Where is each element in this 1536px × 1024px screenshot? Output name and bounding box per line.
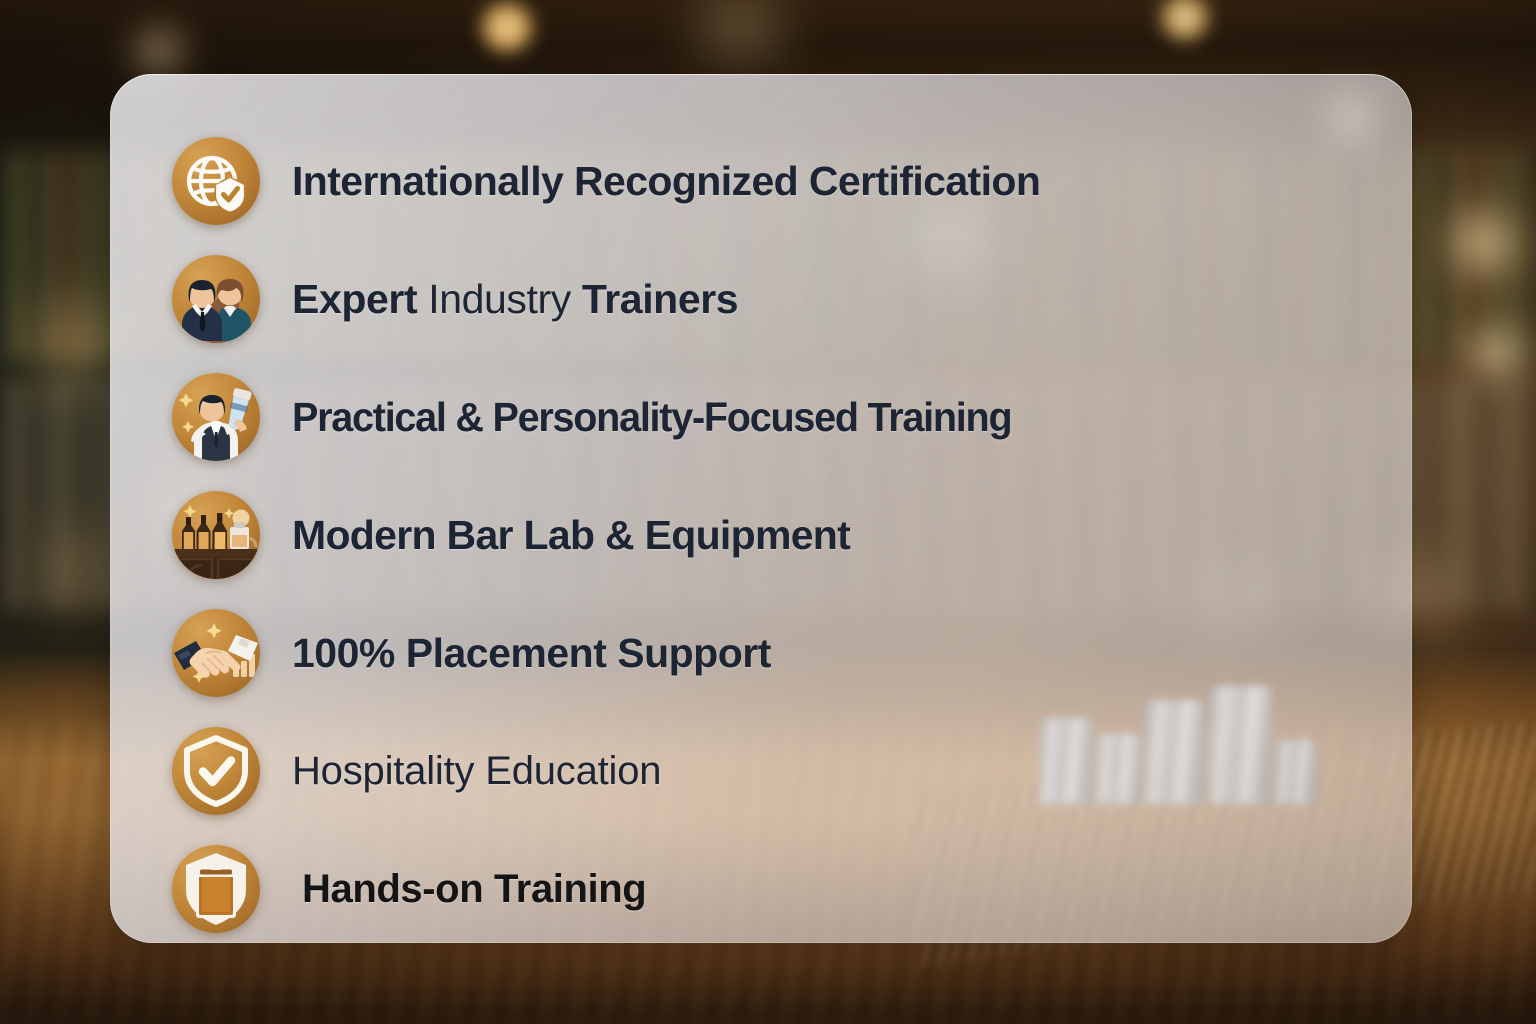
feature-label: Hospitality Education (292, 749, 661, 794)
feature-label: Hands-on Training (302, 867, 646, 912)
feature-item-bar-lab[interactable]: Modern Bar Lab & Equipment (172, 476, 1412, 594)
bartender-shaker-icon (172, 373, 260, 461)
shield-check-icon (172, 727, 260, 815)
feature-item-hospitality-education[interactable]: Hospitality Education (172, 712, 1412, 830)
feature-label: Expert Industry Trainers (292, 276, 738, 323)
feature-item-hands-on-training[interactable]: Hands-on Training (172, 830, 1412, 943)
feature-list: Internationally Recognized Certification (110, 74, 1412, 943)
feature-label-segment: Industry (428, 276, 571, 322)
trainers-people-icon (172, 255, 260, 343)
bar-bottles-shelf-icon (172, 491, 260, 579)
feature-item-trainers[interactable]: Expert Industry Trainers (172, 240, 1412, 358)
feature-label-segment: Expert (292, 276, 428, 322)
feature-label: Practical & Personality-Focused Training (292, 394, 1011, 441)
feature-label-segment: Trainers (571, 276, 738, 322)
handshake-growth-icon (172, 609, 260, 697)
clipboard-shield-icon (172, 845, 260, 933)
feature-label: Internationally Recognized Certification (292, 158, 1040, 205)
feature-label: 100% Placement Support (292, 630, 771, 677)
feature-item-placement-support[interactable]: 100% Placement Support (172, 594, 1412, 712)
globe-check-icon (172, 137, 260, 225)
features-glass-card: Internationally Recognized Certification (110, 74, 1412, 943)
feature-item-certification[interactable]: Internationally Recognized Certification (172, 122, 1412, 240)
feature-label: Modern Bar Lab & Equipment (292, 512, 850, 559)
feature-item-practical-training[interactable]: Practical & Personality-Focused Training (172, 358, 1412, 476)
